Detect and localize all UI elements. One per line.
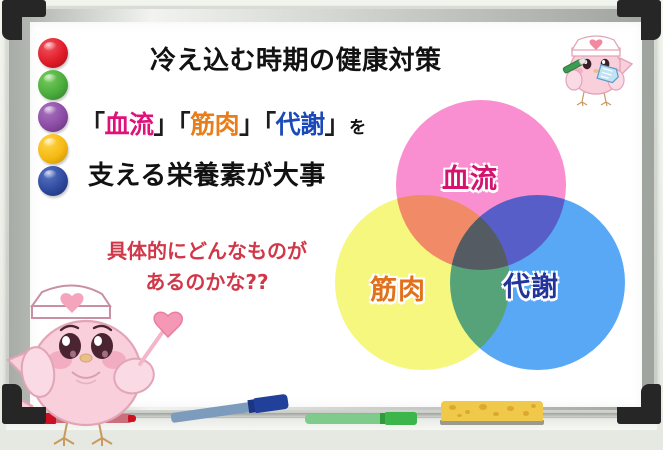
corner-bracket-bottom-right [617, 384, 661, 424]
question-line-1: 具体的にどんなものが [107, 239, 307, 263]
keyword-muscle: 筋肉 [190, 110, 239, 139]
open-bracket-2: 「 [178, 110, 190, 139]
venn-label-metabolism: 代謝 [503, 265, 559, 304]
sponge-eraser[interactable] [440, 401, 544, 425]
close-bracket-3: 」 [325, 110, 350, 139]
page-title: 冷え込む時期の健康対策 [150, 40, 442, 77]
venn-label-blood-flow: 血流 [442, 157, 498, 196]
yellow-magnet[interactable] [38, 134, 68, 164]
red-magnet[interactable] [38, 38, 68, 68]
venn-diagram: 血流 筋肉 代謝 [330, 100, 630, 385]
keyword-metabolism: 代謝 [276, 110, 325, 139]
venn-label-muscle: 筋肉 [370, 268, 426, 307]
corner-bracket-bottom-left [2, 384, 46, 424]
purple-magnet[interactable] [38, 102, 68, 132]
slide-canvas: 冷え込む時期の健康対策 「血流」「筋肉」「代謝」を 支える栄養素が大事 具体的に… [0, 0, 663, 450]
magnet-strip [38, 38, 72, 198]
blue-magnet[interactable] [38, 166, 68, 196]
close-bracket-1: 」 [154, 110, 179, 139]
corner-bracket-top-right [617, 0, 661, 40]
subtitle-line: 支える栄養素が大事 [88, 155, 326, 192]
keyword-blood-flow: 血流 [105, 110, 154, 139]
green-magnet[interactable] [38, 70, 68, 100]
open-bracket-3: 「 [264, 110, 276, 139]
keyword-line: 「血流」「筋肉」「代謝」を [80, 105, 366, 141]
keyword-particle: を [349, 118, 366, 138]
corner-bracket-top-left [2, 0, 46, 40]
close-bracket-2: 」 [239, 110, 264, 139]
green-marker[interactable] [305, 412, 417, 425]
open-bracket-1: 「 [80, 110, 105, 139]
